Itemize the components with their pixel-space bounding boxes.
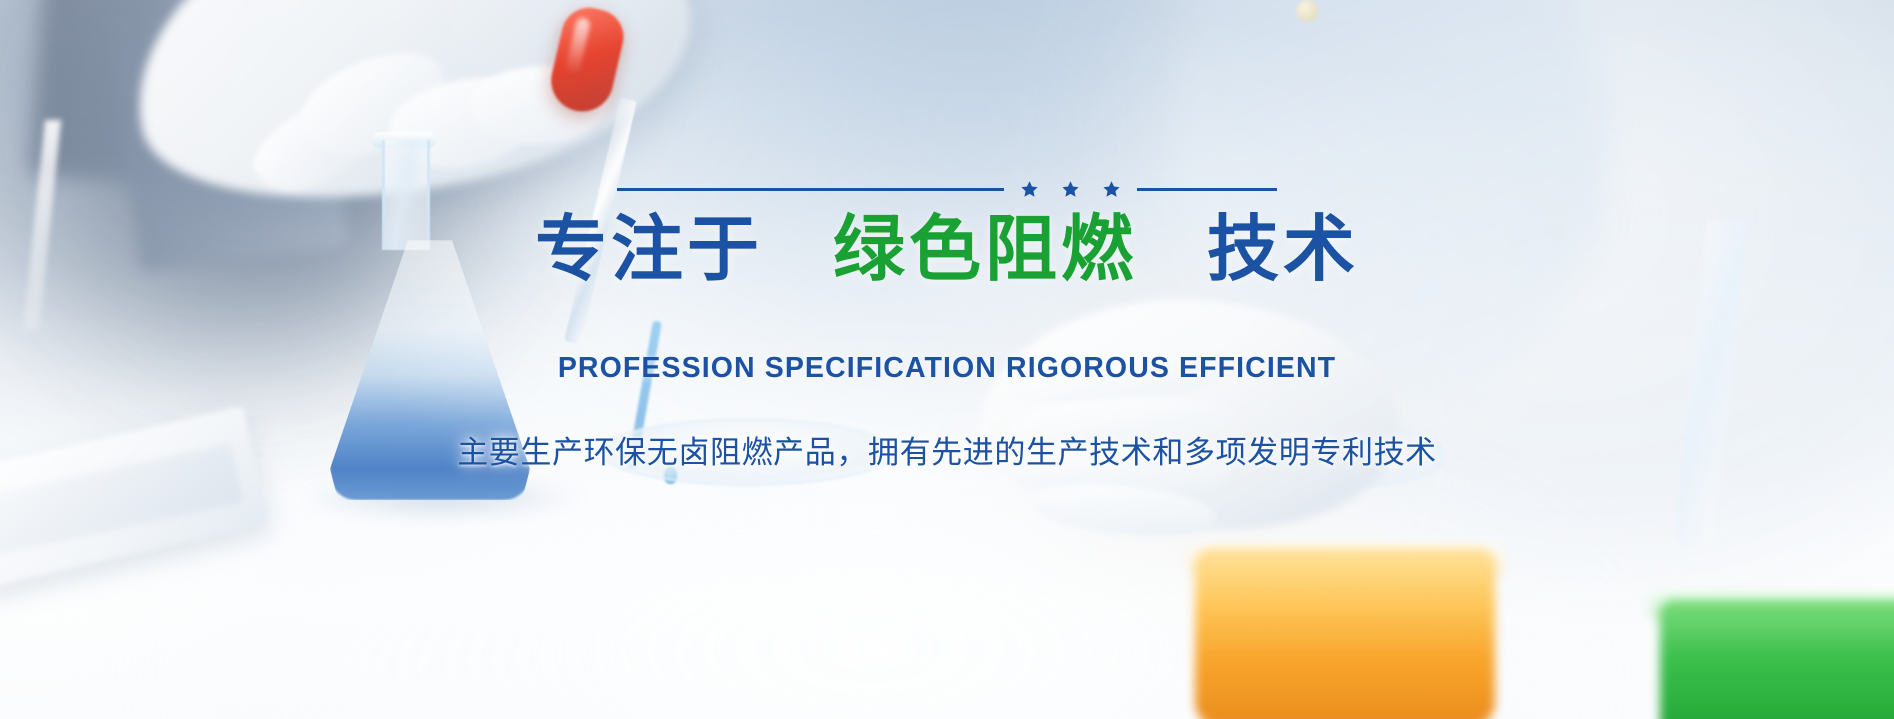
headline-part-2: 绿色阻燃 xyxy=(833,210,1137,290)
banner-content: 专注于 绿色阻燃 技术 PROFESSION SPECIFICATION RIG… xyxy=(0,0,1894,719)
divider-rule-left xyxy=(617,188,1004,191)
headline-part-1: 专注于 xyxy=(535,210,763,290)
star-icon xyxy=(1020,180,1039,199)
star-group xyxy=(1020,180,1121,199)
headline-part-3: 技术 xyxy=(1207,210,1359,290)
star-icon xyxy=(1061,180,1080,199)
page-title: 专注于 绿色阻燃 技术 xyxy=(535,213,1359,288)
english-subtitle: PROFESSION SPECIFICATION RIGOROUS EFFICI… xyxy=(558,352,1336,385)
banner-description: 主要生产环保无卤阻燃产品，拥有先进的生产技术和多项发明专利技术 xyxy=(457,427,1437,472)
star-icon xyxy=(1102,180,1121,199)
star-divider xyxy=(617,180,1277,199)
hero-banner: 专注于 绿色阻燃 技术 PROFESSION SPECIFICATION RIG… xyxy=(0,0,1894,719)
divider-rule-right xyxy=(1137,188,1277,191)
